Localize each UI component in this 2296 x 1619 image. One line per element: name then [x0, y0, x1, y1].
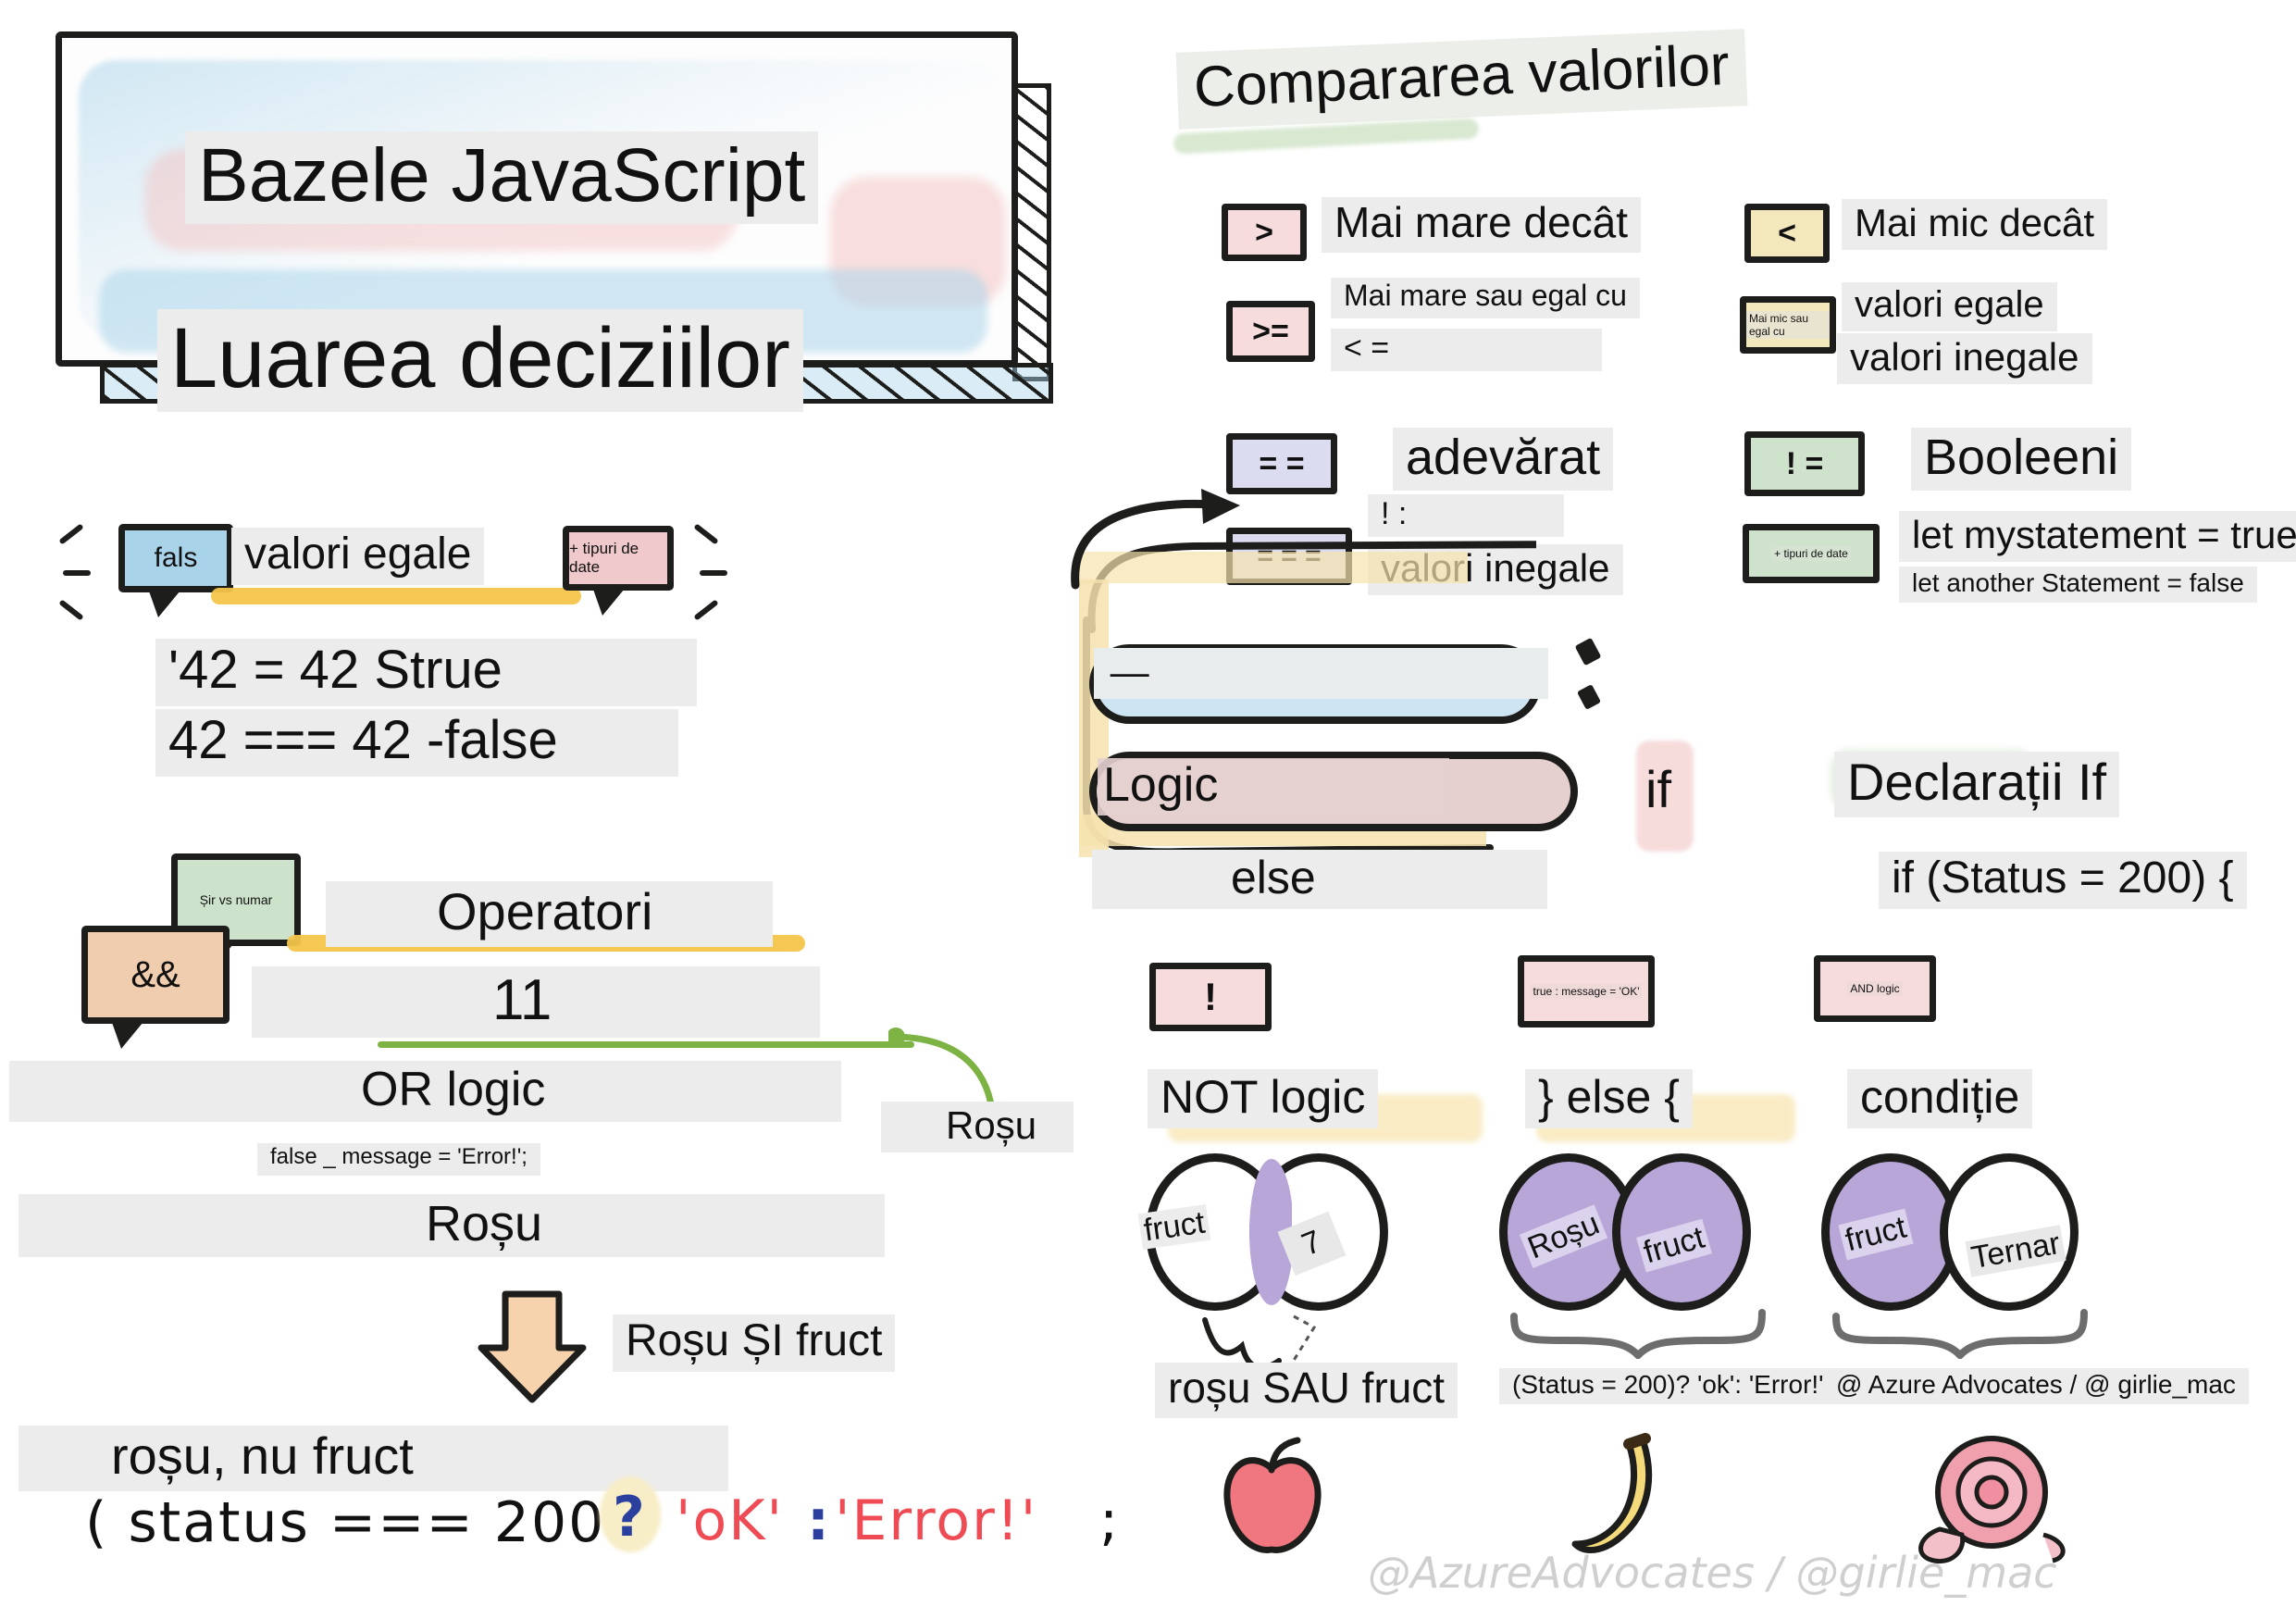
compare-heading-text: Compararea valorilor [1176, 29, 1748, 130]
conditie-heading: condiție [1847, 1069, 2032, 1128]
ternary-colon-text: : [807, 1488, 831, 1553]
if-statement-code-text: if (Status = 200) { [1879, 852, 2247, 909]
op-not-equal-note: ! = [1744, 431, 1865, 496]
title-line-2-text: Luarea deciziilor [157, 309, 803, 412]
rosu-callout: Roșu [881, 1102, 1074, 1152]
boolean-code-2: let another Statement = false [1899, 567, 2257, 603]
and-logic-note-text: AND logic [1847, 981, 1902, 996]
or-logic-text: OR logic [9, 1061, 841, 1122]
if-label: if [1645, 759, 1671, 819]
watermark: @AzureAdvocates / @girlie_mac [1368, 1548, 2057, 1598]
else-note: true : message = 'OK' [1518, 955, 1655, 1027]
bubble-and-operator-text: && [130, 954, 180, 996]
sparkle-right-icon [692, 518, 748, 620]
less-equal-label-text: < = [1331, 329, 1602, 371]
adevarat-label: adevărat [1393, 428, 1613, 491]
ternary-error-literal-text: 'Error!' [835, 1488, 1037, 1553]
venn-else: Roșu fruct [1499, 1148, 1777, 1324]
booleeni-types-note: + tipuri de date [1743, 524, 1880, 583]
op-greater-note: > [1222, 204, 1307, 261]
op-equal-text: = = [1259, 446, 1304, 482]
op-not-equal-text: ! = [1786, 446, 1824, 482]
logic-label-text: Logic [1098, 758, 1449, 816]
equal-code-2-text: 42 === 42 -false [155, 709, 678, 777]
ternary-question-mark: ? [613, 1485, 647, 1550]
bubble-fals: fals [118, 524, 233, 592]
hatch-shadow-right [1012, 83, 1051, 381]
rosu-si-fruct-label: Roșu ȘI fruct [613, 1314, 895, 1372]
boolean-code-1: let mystatement = true [1899, 511, 2296, 562]
not-operator-note: ! [1149, 963, 1272, 1031]
logic-top-bar: — [1094, 648, 1548, 699]
adevarat-text: adevărat [1393, 428, 1613, 491]
operatori-heading: Operatori [326, 881, 773, 947]
operatori-value-text: 11 [252, 966, 820, 1038]
ternary-semicolon-text: ; [1099, 1488, 1120, 1553]
ternary-semicolon: ; [1099, 1488, 1120, 1553]
rosu-callout-text: Roșu [881, 1102, 1074, 1152]
declaratii-if-heading: Declarații If [1834, 752, 2119, 817]
else-block-heading-text: } else { [1525, 1069, 1693, 1128]
credits-caption-text: @ Azure Advocates / @ girlie_mac [1823, 1368, 2249, 1404]
boolean-code-2-text: let another Statement = false [1899, 567, 2257, 603]
curved-arrow-icon [1062, 481, 1285, 592]
not-operator-note-text: ! [1204, 975, 1217, 1019]
venn-ternar: fruct Ternar [1821, 1148, 2117, 1324]
ternary-colon: : [807, 1488, 831, 1553]
not-logic-heading-text: NOT logic [1148, 1069, 1378, 1128]
credits-caption: @ Azure Advocates / @ girlie_mac [1823, 1368, 2249, 1404]
if-label-text: if [1645, 760, 1671, 818]
down-arrow-icon [472, 1287, 592, 1407]
sparkle-left-icon [57, 518, 122, 620]
valori-egale-right-text: valori egale [1842, 282, 2057, 331]
valori-egale-right-label: valori egale [1842, 282, 2057, 331]
else-label-text: else [1092, 850, 1547, 909]
op-greater-equal-label-text: Mai mare sau egal cu [1331, 278, 1640, 318]
else-caption: (Status = 200)? 'ok': 'Error!'; [1499, 1368, 1843, 1404]
bubble-and-operator: && [81, 926, 230, 1024]
ternar-brace-icon [1831, 1307, 2099, 1359]
else-label: else [1092, 850, 1547, 909]
else-caption-text: (Status = 200)? 'ok': 'Error!'; [1499, 1368, 1843, 1404]
op-greater-label-text: Mai mare decât [1322, 197, 1641, 253]
op-less-equal-note-text: Mai mic sau egal cu [1746, 311, 1830, 339]
not-logic-heading: NOT logic [1148, 1069, 1378, 1128]
and-logic-note: AND logic [1814, 955, 1936, 1022]
op-greater-label: Mai mare decât [1322, 197, 1641, 253]
bubble-fals-text: fals [155, 542, 198, 574]
rosu-si-fruct-text: Roșu ȘI fruct [613, 1314, 895, 1372]
logic-label: Logic [1098, 757, 1449, 813]
op-greater-equal-label: Mai mare sau egal cu [1331, 278, 1640, 318]
bubble-sir-vs-numar-text: Șir vs numar [200, 892, 273, 907]
else-brace-icon [1508, 1307, 1777, 1359]
title-line-1: Bazele JavaScript [185, 131, 818, 224]
sparkle-blue-icon [1573, 639, 1638, 731]
valori-inegale-right-label: valori inegale [1837, 333, 2092, 384]
title-line-2: Luarea deciziilor [157, 309, 803, 412]
ternary-condition-text: ( status === 200 ) [85, 1490, 649, 1555]
operatori-heading-text: Operatori [326, 881, 773, 947]
valori-egale-left-text: valori egale [231, 528, 484, 585]
or-logic-label: OR logic [9, 1061, 841, 1122]
title-line-1-text: Bazele JavaScript [185, 131, 818, 224]
else-block-heading: } else { [1525, 1069, 1693, 1128]
valori-inegale-right-text: valori inegale [1837, 333, 2092, 384]
watermark-text: @AzureAdvocates / @girlie_mac [1368, 1548, 2057, 1598]
else-note-text: true : message = 'OK' [1531, 984, 1643, 999]
bubble-tipuri-de-date: + tipuri de date [563, 526, 674, 591]
equal-code-1: '42 = 42 Strue [155, 639, 697, 706]
ternary-ok-literal-text: 'oK' [676, 1488, 784, 1553]
if-statement-code: if (Status = 200) { [1879, 852, 2247, 909]
rosu-label: Roșu [19, 1194, 885, 1257]
equal-code-1-text: '42 = 42 Strue [155, 639, 697, 706]
ternary-ok-literal: 'oK' [676, 1488, 784, 1553]
op-less-equal-note: Mai mic sau egal cu [1740, 296, 1836, 354]
ternary-condition: ( status === 200 ) [85, 1490, 649, 1555]
op-less-note: < [1744, 204, 1830, 263]
false-message-code: false _ message = 'Error!'; [257, 1143, 540, 1176]
compare-heading: Compararea valorilor [1176, 29, 1748, 130]
equal-code-2: 42 === 42 -false [155, 709, 678, 777]
false-message-code-text: false _ message = 'Error!'; [257, 1143, 540, 1176]
bubble-tipuri-de-date-text: + tipuri de date [569, 540, 667, 577]
rosu-text: Roșu [19, 1194, 885, 1257]
operatori-value: 11 [252, 966, 820, 1038]
apple-icon [1212, 1435, 1333, 1564]
valori-egale-left-label: valori egale [231, 528, 484, 585]
op-greater-equal-note: >= [1226, 301, 1315, 362]
title-card: Bazele JavaScript Luarea deciziilor [56, 31, 1064, 392]
booleeni-heading-text: Booleeni [1911, 428, 2131, 491]
ternary-question-mark-text: ? [613, 1485, 647, 1550]
op-less-label: Mai mic decât [1842, 199, 2107, 250]
booleeni-heading: Booleeni [1911, 428, 2131, 491]
op-less-label-text: Mai mic decât [1842, 199, 2107, 250]
venn-not-logic: fruct 7 [1146, 1148, 1414, 1324]
conditie-heading-text: condiție [1847, 1069, 2032, 1128]
declaratii-if-heading-text: Declarații If [1834, 752, 2119, 817]
rosu-sau-fruct-caption: roșu SAU fruct [1155, 1363, 1458, 1418]
less-equal-label: < = [1331, 329, 1602, 371]
booleeni-types-note-text: + tipuri de date [1771, 546, 1851, 561]
rosu-sau-fruct-caption-text: roșu SAU fruct [1155, 1363, 1458, 1418]
boolean-code-1-text: let mystatement = true [1899, 511, 2296, 562]
ternary-error-literal: 'Error!' [835, 1488, 1037, 1553]
